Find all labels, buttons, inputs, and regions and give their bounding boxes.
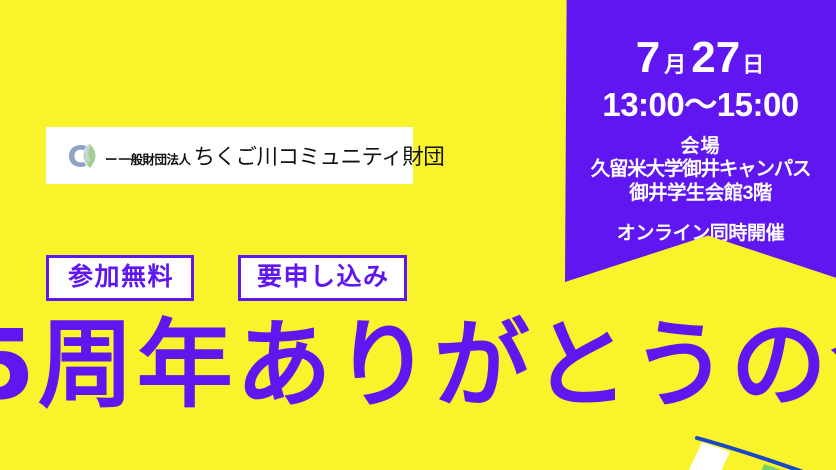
event-time: 13:00〜15:00 <box>571 88 830 123</box>
organization-logo-text: ー一般財団法人ちくご川コミュニティ財団 <box>105 140 444 171</box>
badge-registration-required: 要申し込み <box>238 255 407 301</box>
event-date: 7月27日 <box>571 36 830 80</box>
venue-line-2: 御井学生会館3階 <box>571 182 830 206</box>
badge-group: 参加無料 要申し込み <box>46 255 407 301</box>
bunting-flag-decoration <box>660 420 836 470</box>
logo-corporate-prefix: 一般財団法人 <box>119 149 191 168</box>
event-day-unit: 日 <box>742 52 764 77</box>
event-month-unit: 月 <box>664 52 686 77</box>
organization-logo-card: ー一般財団法人ちくご川コミュニティ財団 <box>46 127 413 184</box>
foundation-logomark-icon <box>68 143 98 169</box>
event-day-number: 27 <box>691 33 740 82</box>
online-note: オンライン同時開催 <box>571 218 830 245</box>
logo-dash: ー <box>105 149 118 168</box>
event-poster: 7月27日 13:00〜15:00 会場 久留米大学御井キャンパス 御井学生会館… <box>0 0 836 470</box>
venue-line-1: 久留米大学御井キャンパス <box>571 158 830 182</box>
event-details-content: 7月27日 13:00〜15:00 会場 久留米大学御井キャンパス 御井学生会館… <box>565 0 836 240</box>
page-title: 5周年ありがとうの会 <box>0 317 836 413</box>
badge-free-admission: 参加無料 <box>46 255 194 301</box>
event-month-number: 7 <box>636 33 660 82</box>
event-details-ribbon: 7月27日 13:00〜15:00 会場 久留米大学御井キャンパス 御井学生会館… <box>565 0 836 282</box>
venue-heading: 会場 <box>571 135 830 158</box>
logo-organization-name: ちくご川コミュニティ財団 <box>194 140 445 171</box>
event-venue: 会場 久留米大学御井キャンパス 御井学生会館3階 <box>571 135 830 206</box>
